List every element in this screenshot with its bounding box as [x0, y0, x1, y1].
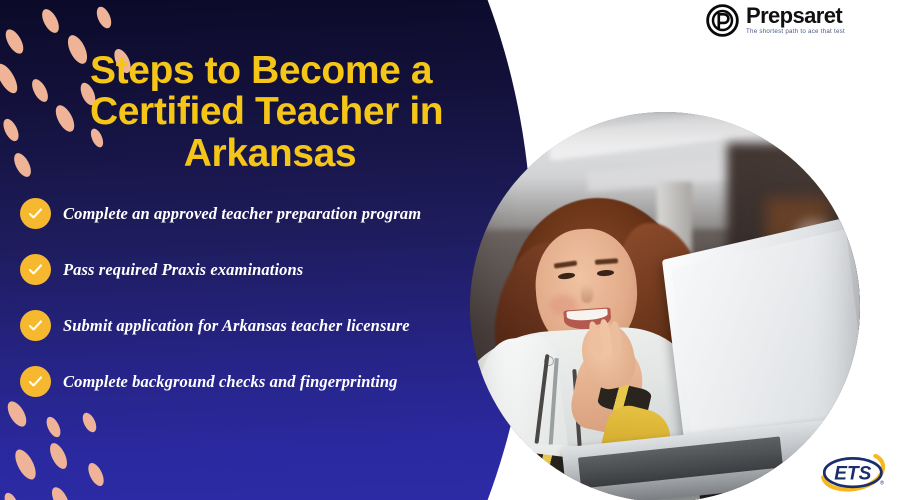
photo-vignette — [470, 112, 860, 500]
check-icon — [26, 260, 45, 279]
step-label: Pass required Praxis examinations — [63, 260, 303, 280]
circled-p-icon — [706, 4, 739, 37]
step-item: Complete an approved teacher preparation… — [20, 198, 480, 229]
ets-wordmark: ETS — [834, 464, 871, 485]
step-label: Complete background checks and fingerpri… — [63, 372, 398, 392]
page-title: Steps to Become a Certified Teacher in A… — [90, 50, 510, 174]
steps-list: Complete an approved teacher preparation… — [20, 198, 480, 422]
title-line-3: Arkansas — [90, 133, 510, 174]
poster-canvas: Steps to Become a Certified Teacher in A… — [0, 0, 900, 500]
step-item: Complete background checks and fingerpri… — [20, 366, 480, 397]
check-icon — [26, 316, 45, 335]
title-line-2: Certified Teacher in — [90, 90, 443, 133]
check-icon — [26, 204, 45, 223]
step-item: Pass required Praxis examinations — [20, 254, 480, 285]
step-label: Submit application for Arkansas teacher … — [63, 316, 410, 336]
ets-registered-mark: ® — [880, 479, 884, 486]
check-icon — [26, 372, 45, 391]
check-circle-icon — [20, 366, 51, 397]
ets-logo: ETS ® — [818, 450, 890, 494]
check-circle-icon — [20, 310, 51, 341]
title-line-1: Steps to Become a — [90, 49, 432, 92]
step-label: Complete an approved teacher preparation… — [63, 204, 421, 224]
step-item: Submit application for Arkansas teacher … — [20, 310, 480, 341]
hero-photo — [470, 112, 860, 500]
check-circle-icon — [20, 254, 51, 285]
check-circle-icon — [20, 198, 51, 229]
brand-name: Prepsaret — [746, 5, 845, 27]
brand-tagline: The shortest path to ace that test — [746, 29, 845, 35]
brand-logo[interactable]: Prepsaret The shortest path to ace that … — [706, 4, 845, 37]
